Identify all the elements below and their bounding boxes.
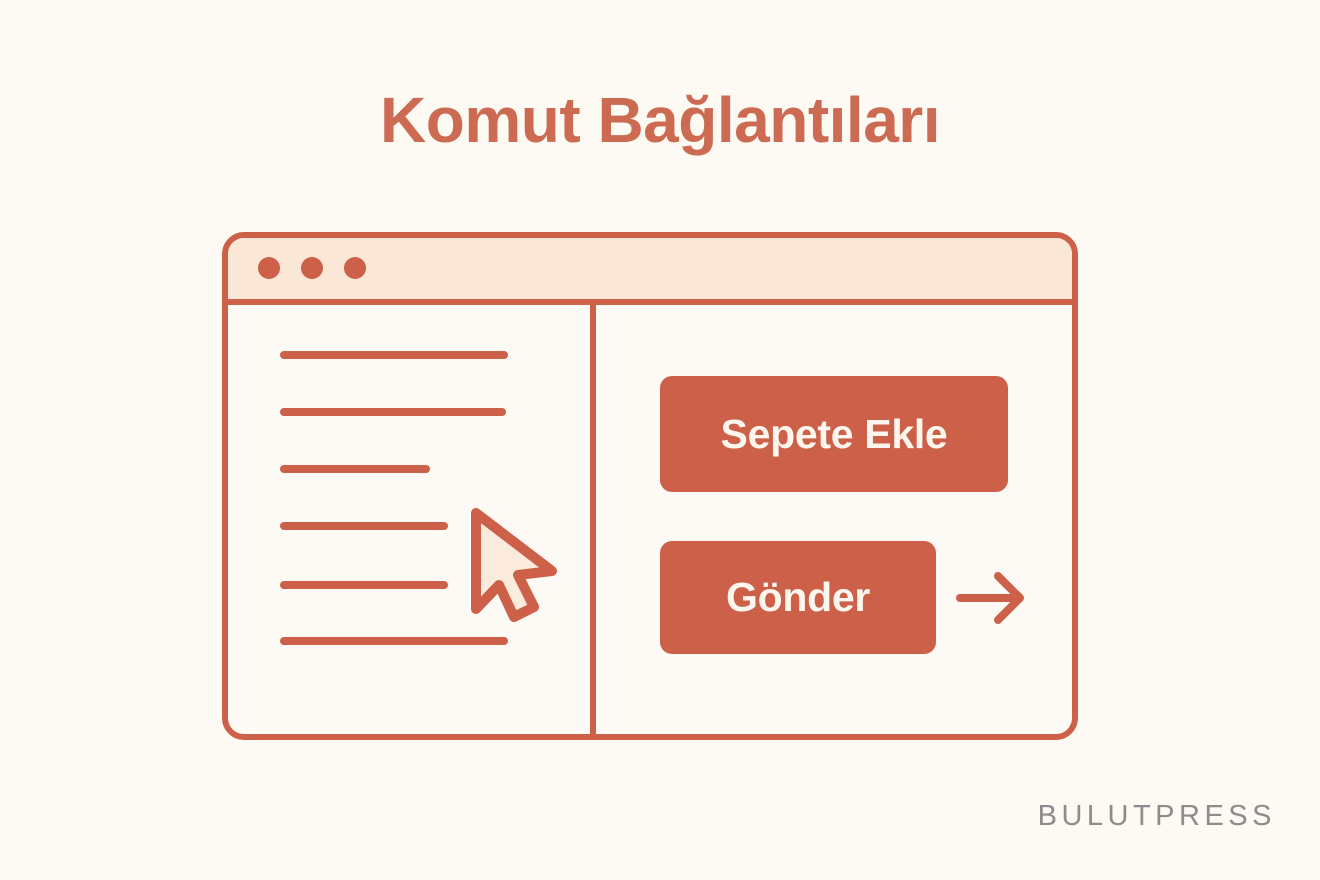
arrow-right-icon[interactable] — [956, 569, 1028, 627]
illustration-canvas: Komut Bağlantıları — [0, 0, 1320, 880]
content-lines-panel — [228, 305, 596, 734]
content-line — [280, 581, 448, 589]
content-line-list — [280, 305, 590, 734]
content-line — [280, 465, 430, 473]
window-dot-minimize[interactable] — [301, 257, 323, 279]
brand-watermark: BULUTPRESS — [1038, 800, 1276, 833]
page-title: Komut Bağlantıları — [0, 88, 1320, 152]
content-line — [280, 351, 508, 359]
content-line — [280, 637, 508, 645]
content-line — [280, 408, 506, 416]
submit-button[interactable]: Gönder — [660, 541, 936, 654]
browser-content-area: Sepete Ekle Gönder — [228, 305, 1072, 734]
content-line — [280, 522, 448, 530]
actions-panel: Sepete Ekle Gönder — [596, 305, 1072, 734]
window-dot-close[interactable] — [258, 257, 280, 279]
browser-title-bar — [228, 238, 1072, 305]
add-to-cart-button[interactable]: Sepete Ekle — [660, 376, 1008, 492]
window-control-dots — [258, 257, 366, 279]
browser-window-mockup: Sepete Ekle Gönder — [222, 232, 1078, 740]
window-dot-maximize[interactable] — [344, 257, 366, 279]
